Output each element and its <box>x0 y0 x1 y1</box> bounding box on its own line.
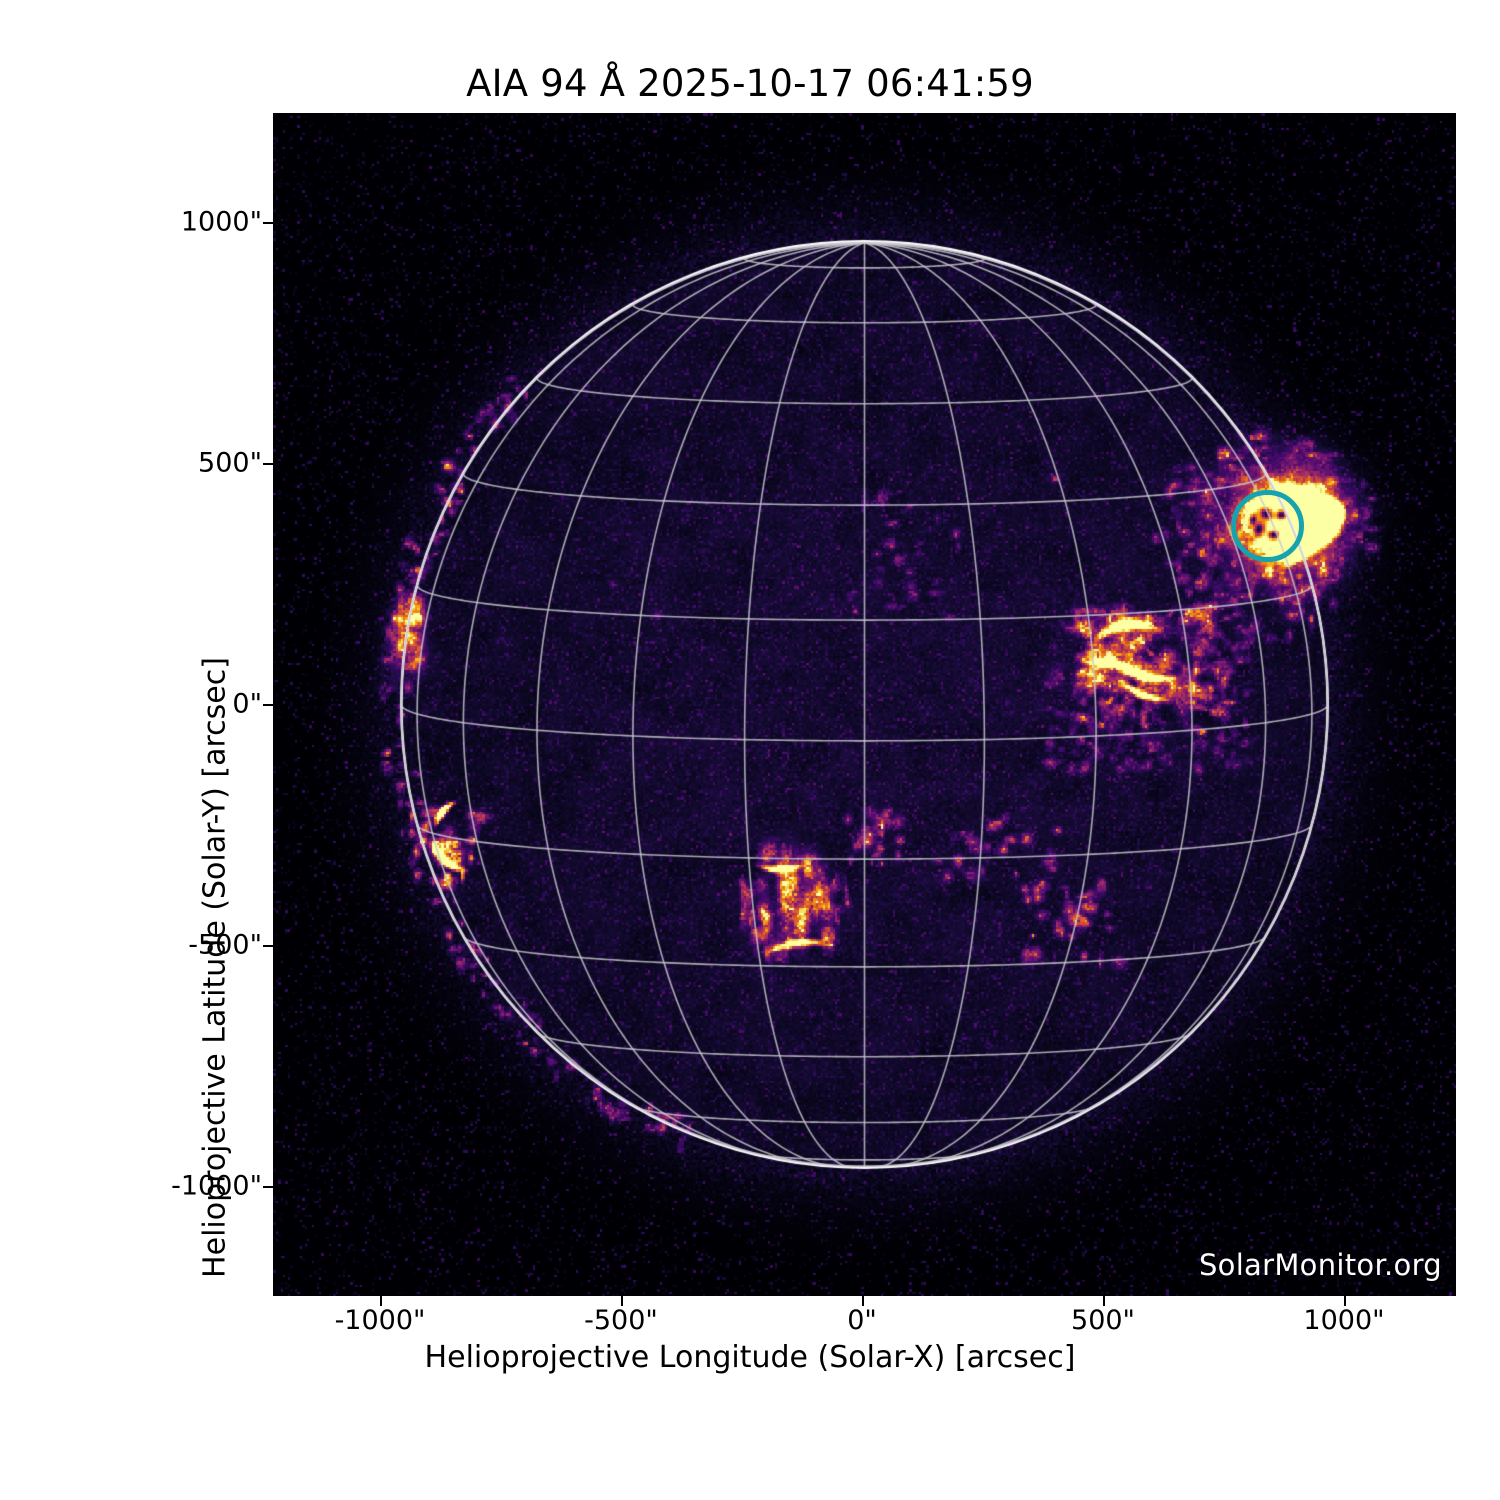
y-axis-label-holder: Helioprojective Latitude (Solar-Y) [arcs… <box>150 250 190 1150</box>
active-region-highlight-circle[interactable] <box>1231 490 1303 562</box>
y-tick-label-neg1000: -1000" <box>102 1171 262 1202</box>
y-tick-mark-neg500 <box>263 945 273 947</box>
solarmonitor-watermark: SolarMonitor.org <box>1199 1248 1442 1282</box>
aia-94-solar-disk-image <box>273 113 1456 1296</box>
x-tick-mark-neg500 <box>621 1296 623 1306</box>
x-tick-label-0: 0" <box>762 1305 962 1336</box>
solar-image-plot-area[interactable]: SolarMonitor.org <box>273 113 1456 1296</box>
x-tick-label-neg1000: -1000" <box>280 1305 480 1336</box>
y-tick-mark-1000 <box>263 222 273 224</box>
solar-image-figure: AIA 94 Å 2025-10-17 06:41:59 SolarMonito… <box>0 0 1500 1500</box>
x-tick-label-1000: 1000" <box>1244 1305 1444 1336</box>
page-title: AIA 94 Å 2025-10-17 06:41:59 <box>0 62 1500 105</box>
y-axis-label: Helioprojective Latitude (Solar-Y) [arcs… <box>198 518 233 1418</box>
x-tick-label-500: 500" <box>1003 1305 1203 1336</box>
y-tick-label-1000: 1000" <box>102 207 262 238</box>
x-tick-label-neg500: -500" <box>521 1305 721 1336</box>
x-tick-mark-1000 <box>1344 1296 1346 1306</box>
x-tick-mark-500 <box>1103 1296 1105 1306</box>
y-tick-mark-0 <box>263 704 273 706</box>
x-tick-mark-neg1000 <box>380 1296 382 1306</box>
x-tick-mark-0 <box>862 1296 864 1306</box>
y-tick-mark-neg1000 <box>263 1186 273 1188</box>
y-tick-mark-500 <box>263 463 273 465</box>
